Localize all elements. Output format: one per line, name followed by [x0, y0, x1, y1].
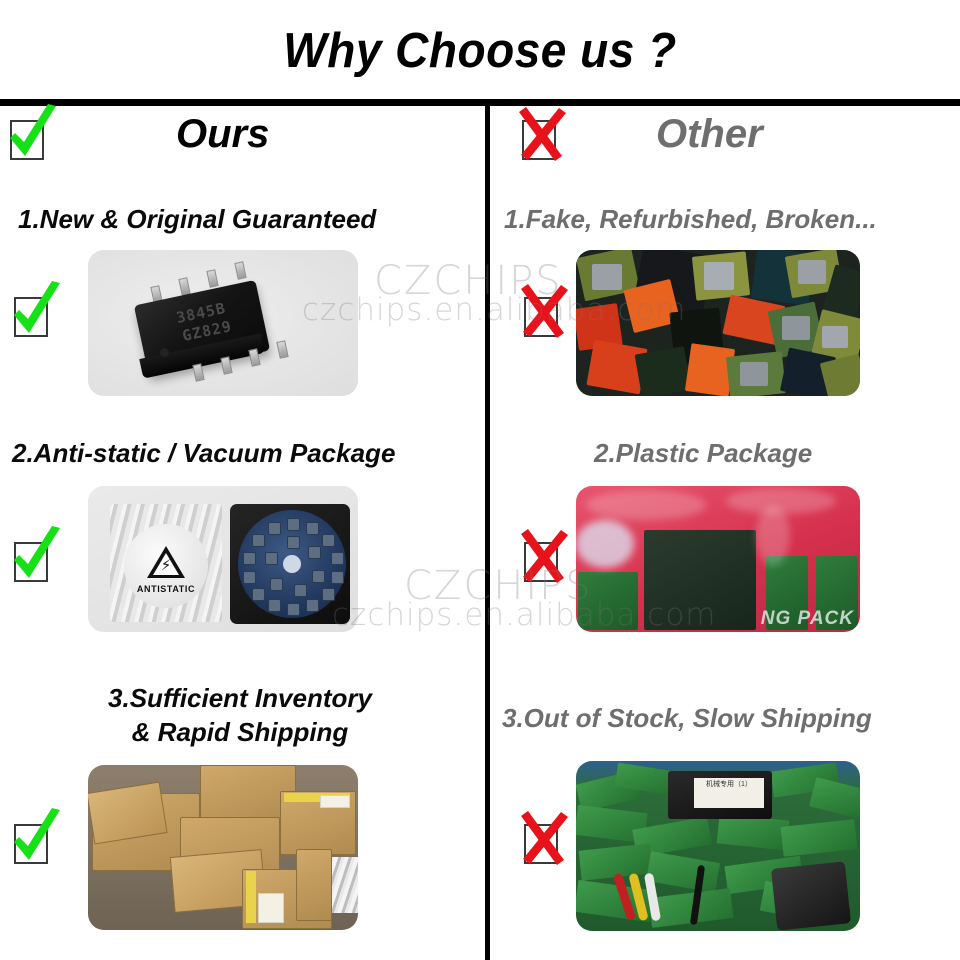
green-check-icon-header — [4, 114, 50, 160]
green-check-icon-row2 — [8, 536, 54, 582]
red-cross-icon-row1 — [518, 291, 564, 337]
antistatic-bag: ⚡ ANTISTATIC — [110, 504, 222, 622]
other-item-1-text: 1.Fake, Refurbished, Broken... — [504, 202, 877, 236]
scrap-chips-pile-photo — [576, 250, 860, 396]
column-heading-other: Other — [656, 112, 763, 157]
green-check-icon-row1 — [8, 291, 54, 337]
ours-item-3-line1: 3.Sufficient Inventory — [108, 683, 372, 713]
why-choose-us-infographic: Why Choose us ? Ours 1.New & Original Gu… — [0, 0, 960, 960]
black-module: 机械专用（1） — [668, 771, 772, 819]
green-pcb-scrap-photo: 机械专用（1） — [576, 761, 860, 931]
cross-glyph — [518, 812, 574, 870]
antistatic-bag-label: ANTISTATIC — [124, 584, 208, 594]
check-glyph — [8, 285, 64, 343]
comparison-grid: Ours 1.New & Original Guaranteed — [0, 106, 960, 960]
ours-item-3-text: 3.Sufficient Inventory & Rapid Shipping — [40, 681, 440, 749]
module-label: 机械专用（1） — [694, 778, 764, 808]
cross-glyph — [516, 108, 572, 166]
red-cross-icon-header — [516, 114, 562, 160]
cross-glyph — [518, 285, 574, 343]
other-item-3-text: 3.Out of Stock, Slow Shipping — [502, 701, 872, 735]
ours-item-3-line2: & Rapid Shipping — [132, 717, 349, 747]
component-tray — [230, 504, 350, 624]
pack-overlay-text: NG PACK — [761, 608, 854, 630]
red-cross-icon-row3 — [518, 818, 564, 864]
title-bar: Why Choose us ? — [0, 0, 960, 100]
ours-item-1-text: 1.New & Original Guaranteed — [18, 202, 376, 236]
cross-glyph — [518, 530, 574, 588]
other-item-2-text: 2.Plastic Package — [594, 436, 812, 470]
column-ours: Ours 1.New & Original Guaranteed — [0, 106, 486, 960]
check-glyph — [8, 812, 64, 870]
page-title: Why Choose us ? — [283, 21, 676, 78]
header-divider — [0, 99, 960, 106]
antistatic-bag-and-reel-photo: ⚡ ANTISTATIC — [88, 486, 358, 632]
pink-plastic-bag-pcb-photo: NG PACK — [576, 486, 860, 632]
column-heading-ours: Ours — [176, 112, 269, 157]
ours-item-2-text: 2.Anti-static / Vacuum Package — [12, 436, 395, 470]
check-glyph — [4, 108, 60, 166]
green-check-icon-row3 — [8, 818, 54, 864]
ic-chip-photo: 3845B GZ829 — [88, 250, 358, 396]
column-other: Other 1.Fake, Refurbished, Broken... — [486, 106, 960, 960]
check-glyph — [8, 530, 64, 588]
red-cross-icon-row2 — [518, 536, 564, 582]
inventory-boxes-photo — [88, 765, 358, 930]
